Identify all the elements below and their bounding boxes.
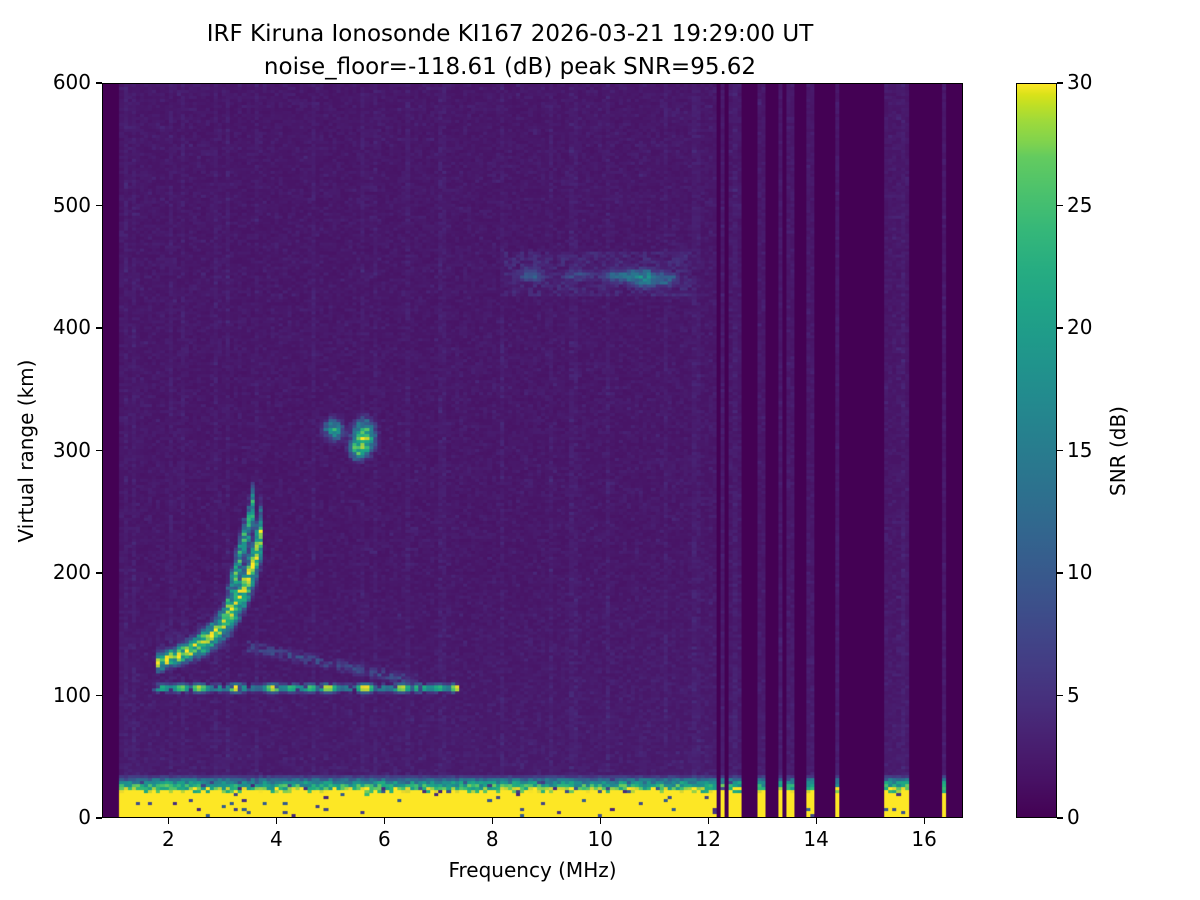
x-tick (924, 818, 925, 824)
colorbar-tick-label: 10 (1067, 560, 1092, 584)
x-tick (708, 818, 709, 824)
x-tick (384, 818, 385, 824)
x-tick-label: 4 (246, 827, 306, 851)
colorbar-tick-label: 0 (1067, 805, 1080, 829)
y-tick (96, 572, 102, 573)
x-tick (600, 818, 601, 824)
y-tick (96, 82, 102, 83)
y-tick-label: 0 (21, 805, 91, 829)
y-tick-label: 200 (21, 560, 91, 584)
x-tick-label: 16 (894, 827, 954, 851)
colorbar-tick (1057, 82, 1063, 83)
x-tick-label: 8 (462, 827, 522, 851)
colorbar-tick-label: 30 (1067, 70, 1092, 94)
x-tick-label: 14 (786, 827, 846, 851)
x-tick-label: 6 (354, 827, 414, 851)
x-tick (816, 818, 817, 824)
y-tick (96, 205, 102, 206)
colorbar-tick-label: 25 (1067, 193, 1092, 217)
x-tick-label: 12 (678, 827, 738, 851)
y-tick (96, 450, 102, 451)
y-tick-label: 500 (21, 193, 91, 217)
x-tick (276, 818, 277, 824)
colorbar-tick (1057, 327, 1063, 328)
y-tick-label: 400 (21, 315, 91, 339)
colorbar-tick (1057, 205, 1063, 206)
y-tick (96, 327, 102, 328)
x-tick (492, 818, 493, 824)
ionogram-figure: IRF Kiruna Ionosonde KI167 2026-03-21 19… (0, 0, 1200, 900)
colorbar-label: SNR (dB) (1106, 406, 1130, 496)
x-tick-label: 2 (138, 827, 198, 851)
colorbar-tick-label: 5 (1067, 683, 1080, 707)
y-axis-label: Virtual range (km) (14, 359, 38, 542)
colorbar-tick (1057, 817, 1063, 818)
heatmap-plot-area (102, 83, 963, 818)
x-tick-label: 10 (570, 827, 630, 851)
colorbar-gradient (1016, 83, 1057, 818)
y-tick-label: 100 (21, 683, 91, 707)
ionogram-heatmap-canvas (103, 84, 962, 817)
colorbar-tick-label: 15 (1067, 438, 1092, 462)
colorbar-tick (1057, 695, 1063, 696)
colorbar-tick (1057, 450, 1063, 451)
y-tick (96, 817, 102, 818)
figure-title: IRF Kiruna Ionosonde KI167 2026-03-21 19… (0, 18, 1020, 84)
x-axis-label: Frequency (MHz) (102, 858, 963, 882)
x-tick (168, 818, 169, 824)
y-tick (96, 695, 102, 696)
y-tick-label: 600 (21, 70, 91, 94)
colorbar-tick (1057, 572, 1063, 573)
colorbar-tick-label: 20 (1067, 315, 1092, 339)
